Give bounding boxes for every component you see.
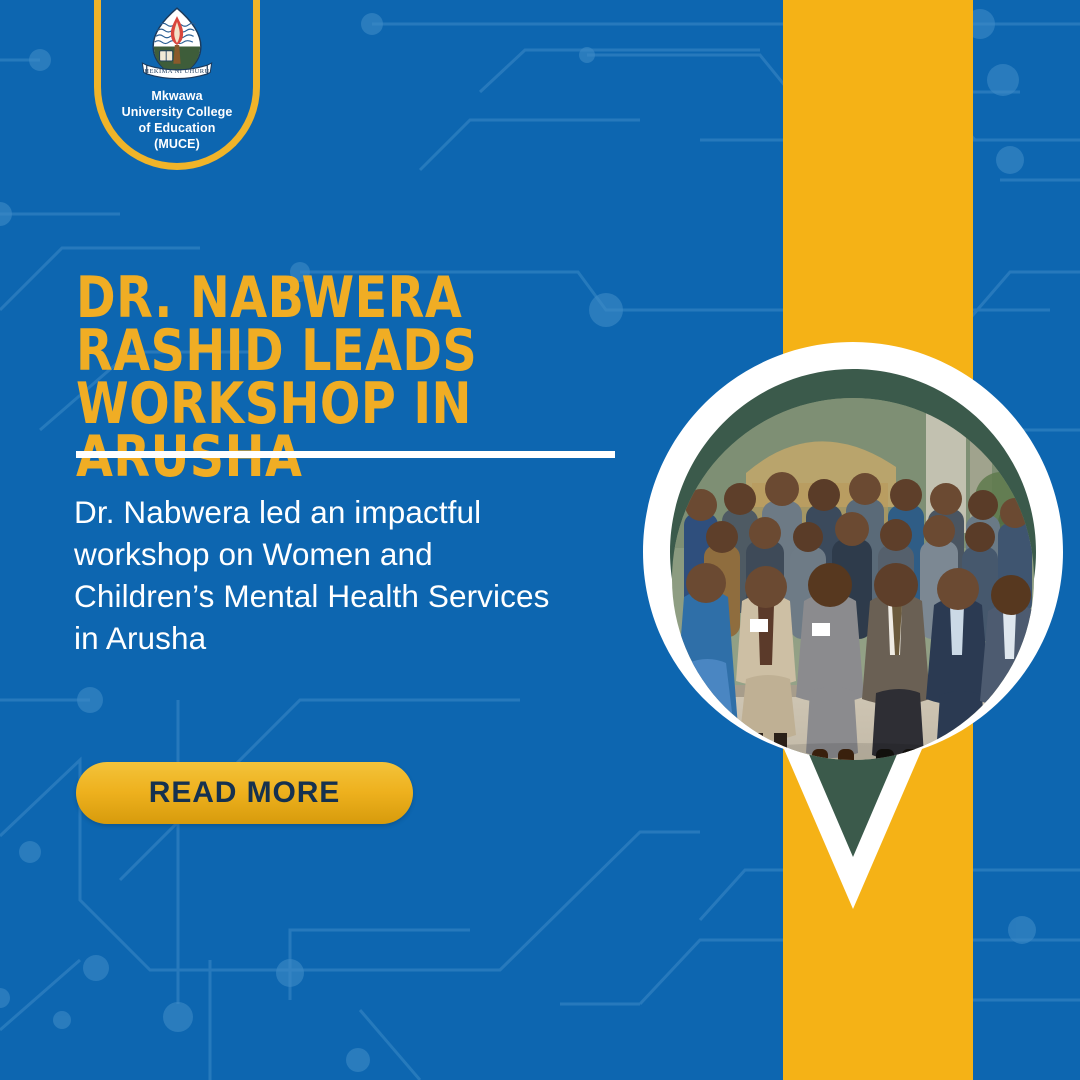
logo-wordmark: Mkwawa University College of Education (… xyxy=(122,88,233,152)
body-text: Dr. Nabwera led an impactful workshop on… xyxy=(74,492,574,660)
crest-motto-text: HEKIMA NI UHURU xyxy=(144,68,209,75)
map-pin-photo xyxy=(626,333,1080,918)
logo-line-3: of Education xyxy=(122,120,233,136)
logo-line-4: (MUCE) xyxy=(122,136,233,152)
title-divider xyxy=(76,451,615,458)
read-more-button[interactable]: READ MORE xyxy=(76,762,413,824)
map-pin-shape xyxy=(626,333,1080,918)
muce-logo: HEKIMA NI UHURU Mkwawa University Colleg… xyxy=(96,6,258,168)
university-crest-icon: HEKIMA NI UHURU xyxy=(140,6,214,84)
headline-line-2: WORKSHOP IN ARUSHA xyxy=(76,378,634,484)
headline-line-1: DR. NABWERA RASHID LEADS xyxy=(76,265,477,384)
logo-line-1: Mkwawa xyxy=(122,88,233,104)
logo-line-2: University College xyxy=(122,104,233,120)
social-media-poster: HEKIMA NI UHURU Mkwawa University Colleg… xyxy=(0,0,1080,1080)
workshop-group-photo xyxy=(672,398,1042,798)
